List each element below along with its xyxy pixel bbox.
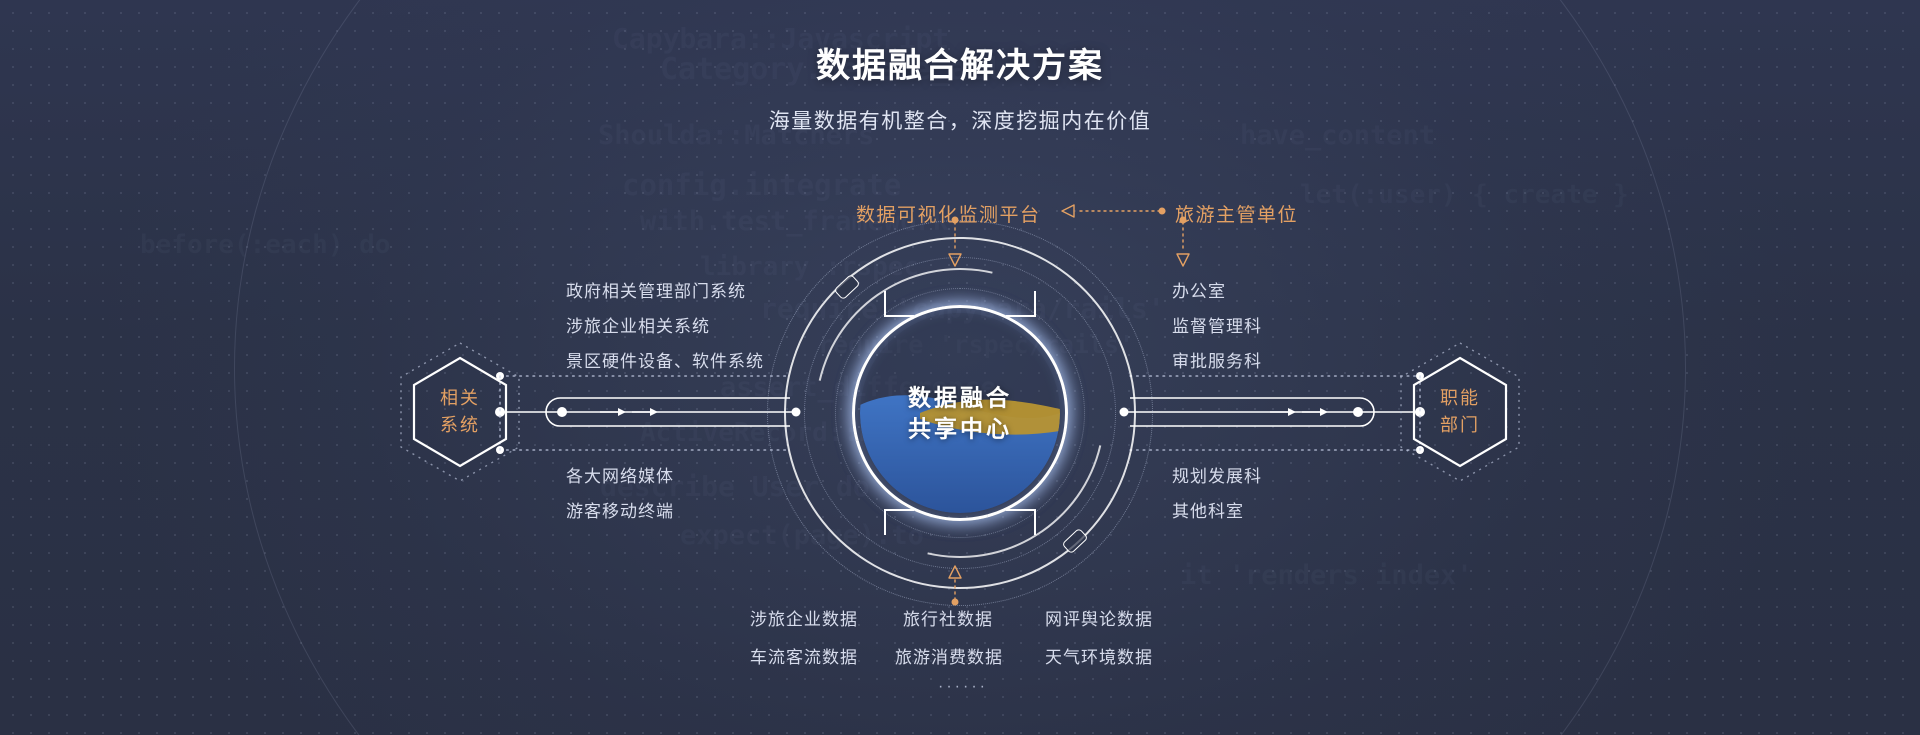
background-code-line: config.integrate (622, 168, 901, 202)
background-code-line: it 'renders index' (1180, 560, 1473, 591)
background-code-line: before(:each) do (140, 230, 390, 260)
right-hexagon-line2: 部门 (1400, 412, 1520, 439)
sphere-label-line1: 数据融合 (850, 382, 1070, 413)
list-item[interactable]: 规划发展科 (1172, 462, 1262, 487)
solution-diagram-stage: Capybara::JavascriptCategory.delete_allS… (0, 0, 1920, 735)
label-tourism-authority[interactable]: 旅游主管单位 (1175, 200, 1298, 227)
left-hexagon-line1: 相关 (400, 385, 520, 412)
list-item[interactable]: 涉旅企业数据 (750, 605, 858, 630)
right-hexagon-line1: 职能 (1400, 385, 1520, 412)
left-hexagon-label: 相关 系统 (400, 385, 520, 439)
list-item[interactable]: 政府相关管理部门系统 (566, 277, 746, 302)
list-item[interactable]: 游客移动终端 (566, 497, 674, 522)
page-title: 数据融合解决方案 (0, 38, 1920, 87)
list-item[interactable]: 旅游消费数据 (895, 643, 1003, 668)
list-item[interactable]: 其他科室 (1172, 497, 1244, 522)
list-item[interactable]: 各大网络媒体 (566, 462, 674, 487)
label-visualization-platform[interactable]: 数据可视化监测平台 (856, 200, 1041, 227)
list-item[interactable]: 车流客流数据 (750, 643, 858, 668)
sphere-label-line2: 共享中心 (850, 413, 1070, 444)
bottom-ellipsis: ······ (938, 678, 988, 696)
list-item[interactable]: 审批服务科 (1172, 347, 1262, 372)
list-item[interactable]: 办公室 (1172, 277, 1226, 302)
page-subtitle: 海量数据有机整合，深度挖掘内在价值 (0, 105, 1920, 135)
background-code-line: let(:user) { create } (1300, 180, 1629, 210)
list-item[interactable]: 天气环境数据 (1045, 643, 1153, 668)
list-item[interactable]: 涉旅企业相关系统 (566, 312, 710, 337)
list-item[interactable]: 景区硬件设备、软件系统 (566, 347, 764, 372)
list-item[interactable]: 旅行社数据 (903, 605, 993, 630)
sphere-label: 数据融合 共享中心 (850, 382, 1070, 443)
list-item[interactable]: 网评舆论数据 (1045, 605, 1153, 630)
left-hexagon-group[interactable]: 相关 系统 (385, 337, 535, 487)
list-item[interactable]: 监督管理科 (1172, 312, 1262, 337)
right-hexagon-group[interactable]: 职能 部门 (1385, 337, 1535, 487)
right-hexagon-label: 职能 部门 (1400, 385, 1520, 439)
left-hexagon-line2: 系统 (400, 412, 520, 439)
page-header: 数据融合解决方案 海量数据有机整合，深度挖掘内在价值 (0, 0, 1920, 135)
